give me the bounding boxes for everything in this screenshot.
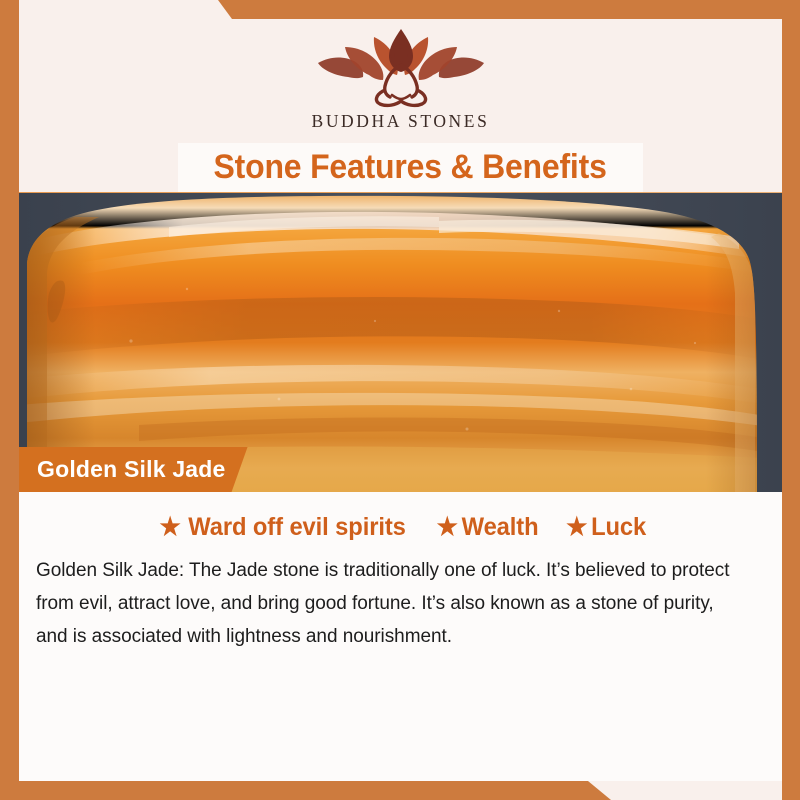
stone-name-text: Golden Silk Jade — [37, 456, 226, 483]
star-icon: ★ — [437, 515, 458, 540]
benefit-item: ★ Wealth — [437, 513, 539, 542]
brand-name: BUDDHA STONES — [312, 111, 490, 132]
page-title: Stone Features & Benefits — [214, 148, 607, 187]
benefit-label: Luck — [591, 513, 646, 542]
stone-name-label: Golden Silk Jade — [19, 447, 248, 492]
poster-content: ★ Ward off evil spirits ★ Wealth ★ Luck … — [19, 492, 782, 653]
benefits-list: ★ Ward off evil spirits ★ Wealth ★ Luck — [19, 513, 782, 542]
benefit-item: ★ Ward off evil spirits — [160, 513, 406, 542]
benefit-label: Wealth — [462, 513, 539, 542]
star-icon: ★ — [160, 515, 181, 540]
star-icon: ★ — [566, 515, 587, 540]
stone-feature-poster: BUDDHA STONES Stone Features & Benefits — [0, 0, 800, 800]
lotus-meditation-icon — [314, 25, 488, 109]
stone-description: Golden Silk Jade: The Jade stone is trad… — [36, 554, 743, 653]
benefit-item: ★ Luck — [566, 513, 646, 542]
frame-right-band — [782, 0, 800, 800]
frame-left-band — [0, 0, 19, 800]
brand-logo: BUDDHA STONES — [19, 25, 782, 132]
benefit-label: Ward off evil spirits — [188, 513, 406, 542]
title-plate: Stone Features & Benefits — [178, 143, 643, 192]
frame-bottom-band — [0, 781, 800, 800]
frame-top-band — [0, 0, 800, 19]
